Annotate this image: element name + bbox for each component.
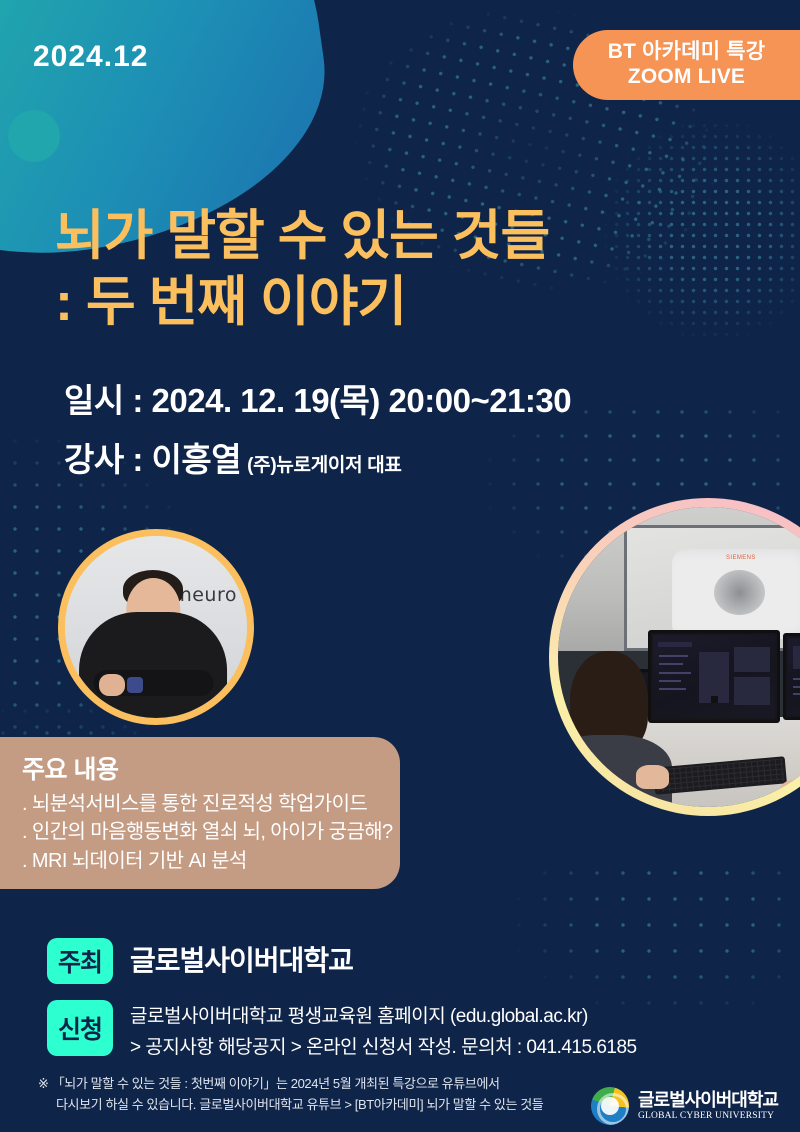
footnote-line-1: ※ 「뇌가 말할 수 있는 것들 : 첫번째 이야기」는 2024년 5월 개최… xyxy=(38,1073,543,1094)
zoom-live-badge: BT 아카데미 특강 ZOOM LIVE xyxy=(573,30,800,100)
ui-line xyxy=(793,686,800,688)
university-name-korean: 글로벌사이버대학교 xyxy=(638,1091,778,1111)
speaker-portrait-photo: neuro xyxy=(58,529,254,725)
event-poster: 2024.12 BT 아카데미 특강 ZOOM LIVE 뇌가 말할 수 있는 … xyxy=(0,0,800,1132)
footnote-line-2: 다시보기 하실 수 있습니다. 글로벌사이버대학교 유튜브 > [BT아카데미]… xyxy=(38,1094,543,1115)
university-emblem-icon xyxy=(591,1087,629,1125)
monitor-stand xyxy=(711,696,717,704)
apply-instructions-line: > 공지사항 해당공지 > 온라인 신청서 작성. 문의처 : 041.415.… xyxy=(130,1031,637,1062)
event-datetime: 일시 : 2024. 12. 19(목) 20:00~21:30 xyxy=(64,374,571,422)
content-panel-title: 주요 내용 xyxy=(22,750,380,786)
monitor-main-screen xyxy=(653,635,775,718)
university-logo-text: 글로벌사이버대학교 GLOBAL CYBER UNIVERSITY xyxy=(638,1091,778,1121)
teal-circle-accent xyxy=(8,110,60,162)
content-list-item: . 인간의 마음행동변화 열쇠 뇌, 아이가 궁금해? xyxy=(22,818,380,846)
ui-line xyxy=(659,655,688,657)
mri-monitor-right xyxy=(783,633,800,720)
portrait-hand xyxy=(99,674,125,696)
host-row: 주최 글로벌사이버대학교 xyxy=(47,938,353,984)
technician-left-hand xyxy=(636,765,669,789)
date-chip: 2024.12 xyxy=(33,40,148,74)
content-list-item: . MRI 뇌데이터 기반 AI 분석 xyxy=(22,847,380,875)
mri-scanner-bore xyxy=(714,570,765,615)
technician-right-hand xyxy=(780,780,800,804)
poster-title: 뇌가 말할 수 있는 것들 : 두 번째 이야기 xyxy=(55,204,755,336)
speaker-affiliation: (주)뉴로게이저 대표 xyxy=(247,455,401,476)
mri-monitor-main xyxy=(648,630,780,723)
content-item-list: . 뇌분석서비스를 통한 진로적성 학업가이드 . 인간의 마음행동변화 열쇠 … xyxy=(22,790,380,875)
monitor-right-screen xyxy=(788,638,800,715)
ui-line xyxy=(659,663,683,665)
apply-info-wrapper: 글로벌사이버대학교 평생교육원 홈페이지 (edu.global.ac.kr) … xyxy=(130,1000,637,1062)
mri-control-room-photo: SIEMENS xyxy=(549,498,800,816)
host-university-name: 글로벌사이버대학교 xyxy=(130,938,353,984)
ui-panel xyxy=(793,646,800,669)
ui-line xyxy=(659,672,691,674)
content-list-item: . 뇌분석서비스를 통한 진로적성 학업가이드 xyxy=(22,790,380,818)
university-logo: 글로벌사이버대학교 GLOBAL CYBER UNIVERSITY xyxy=(591,1087,778,1125)
mri-brand-label: SIEMENS xyxy=(726,555,756,561)
event-speaker: 강사 : 이흥열(주)뉴로게이저 대표 xyxy=(64,433,402,481)
badge-line-program: BT 아카데미 특강 xyxy=(608,40,766,65)
apply-website-line[interactable]: 글로벌사이버대학교 평생교육원 홈페이지 (edu.global.ac.kr) xyxy=(130,1000,637,1031)
university-name-english: GLOBAL CYBER UNIVERSITY xyxy=(638,1111,778,1121)
portrait-torso xyxy=(79,612,227,724)
main-content-panel: 주요 내용 . 뇌분석서비스를 통한 진로적성 학업가이드 . 인간의 마음행동… xyxy=(0,737,400,889)
ui-panel xyxy=(734,647,771,672)
ui-panel xyxy=(734,677,771,705)
speaker-name: 강사 : 이흥열 xyxy=(64,441,241,478)
ui-line xyxy=(659,688,686,690)
apply-tag-badge: 신청 xyxy=(47,1000,113,1056)
ui-panel xyxy=(658,642,692,647)
application-row: 신청 글로벌사이버대학교 평생교육원 홈페이지 (edu.global.ac.k… xyxy=(47,1000,637,1062)
badge-line-zoom: ZOOM LIVE xyxy=(628,65,745,90)
host-tag-badge: 주최 xyxy=(47,938,113,984)
host-name-wrapper: 글로벌사이버대학교 xyxy=(130,938,353,984)
mri-photo-inner: SIEMENS xyxy=(558,507,800,807)
ui-line xyxy=(793,678,800,680)
ui-line xyxy=(659,680,681,682)
portrait-wristwatch xyxy=(127,677,143,693)
wall-logo-text: neuro xyxy=(180,584,237,606)
footnote-block: ※ 「뇌가 말할 수 있는 것들 : 첫번째 이야기」는 2024년 5월 개최… xyxy=(38,1073,543,1115)
ui-line xyxy=(793,693,800,695)
